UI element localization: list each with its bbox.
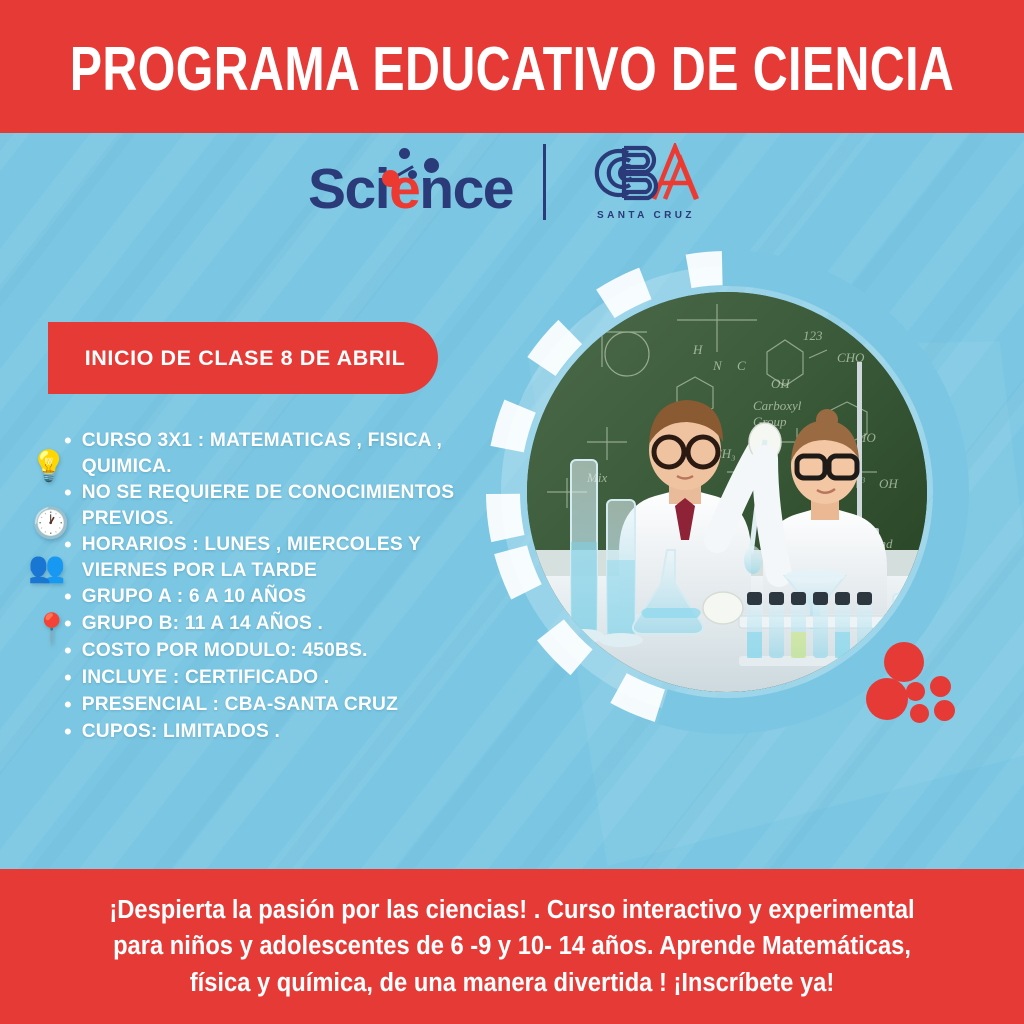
list-item-label: CUPOS: LIMITADOS . <box>82 719 280 745</box>
list-item-label: GRUPO B: 11 A 14 AÑOS . <box>82 611 323 637</box>
logo-row: Science <box>0 139 1024 225</box>
bullet-marker: • <box>58 532 72 558</box>
list-item: • NO SE REQUIERE DE CONOCIMIENTOS PREVIO… <box>58 480 458 531</box>
list-item-label: GRUPO A : 6 A 10 AÑOS <box>82 584 307 610</box>
page-title: PROGRAMA EDUCATIVO DE CIENCIA <box>70 33 955 101</box>
list-item-label: CURSO 3X1 : MATEMATICAS , FISICA , QUIMI… <box>82 428 458 479</box>
course-details-list: • CURSO 3X1 : MATEMATICAS , FISICA , QUI… <box>58 428 458 746</box>
list-item: • PRESENCIAL : CBA-SANTA CRUZ <box>58 692 458 718</box>
svg-text:123: 123 <box>803 328 823 343</box>
svg-text:C: C <box>737 358 746 373</box>
red-dot <box>884 642 924 682</box>
red-dots-decoration <box>866 638 976 738</box>
start-date-badge: INICIO DE CLASE 8 DE ABRIL <box>48 322 438 394</box>
header-banner: PROGRAMA EDUCATIVO DE CIENCIA <box>0 0 1024 133</box>
svg-text:OH: OH <box>879 476 898 491</box>
science-logo: Science <box>308 146 513 218</box>
list-item: • GRUPO B: 11 A 14 AÑOS . <box>58 611 458 637</box>
svg-text:H: H <box>692 342 703 357</box>
svg-text:N: N <box>712 358 723 373</box>
bullet-marker: • <box>58 692 72 718</box>
bullet-marker: • <box>58 719 72 745</box>
list-item-label: INCLUYE : CERTIFICADO . <box>82 665 330 691</box>
bullet-marker: • <box>58 638 72 664</box>
list-item: • COSTO POR MODULO: 450BS. <box>58 638 458 664</box>
red-dot <box>930 676 951 697</box>
red-dot <box>934 700 955 721</box>
bullet-marker: • <box>58 611 72 637</box>
svg-text:OH: OH <box>771 376 790 391</box>
bullet-marker: • <box>58 665 72 691</box>
list-item-label: HORARIOS : LUNES , MIERCOLES Y VIERNES P… <box>82 532 458 583</box>
list-item-label: NO SE REQUIERE DE CONOCIMIENTOS PREVIOS. <box>82 480 458 531</box>
cba-subtitle: SANTA CRUZ <box>576 210 716 221</box>
bullet-marker: • <box>58 584 72 610</box>
red-dot <box>866 678 908 720</box>
list-item-label: PRESENCIAL : CBA-SANTA CRUZ <box>82 692 398 718</box>
footer-banner: ¡Despierta la pasión por las ciencias! .… <box>0 869 1024 1024</box>
svg-text:Carboxyl: Carboxyl <box>753 398 802 413</box>
list-item: • INCLUYE : CERTIFICADO . <box>58 665 458 691</box>
lab-photo: H N C OH Carboxyl Group CHO H HO CH₃ OH … <box>527 292 927 692</box>
flyer-poster: PROGRAMA EDUCATIVO DE CIENCIA Science <box>0 0 1024 1024</box>
list-item: • CUPOS: LIMITADOS . <box>58 719 458 745</box>
lab-photo-illustration: H N C OH Carboxyl Group CHO H HO CH₃ OH … <box>527 292 927 692</box>
science-logo-part1: Sci <box>308 157 389 221</box>
list-item: • HORARIOS : LUNES , MIERCOLES Y VIERNES… <box>58 532 458 583</box>
red-dot <box>906 682 925 701</box>
logo-divider <box>543 144 546 220</box>
footer-text: ¡Despierta la pasión por las ciencias! .… <box>103 892 921 1001</box>
list-item-label: COSTO POR MODULO: 450BS. <box>82 638 368 664</box>
science-logo-highlight-e: e <box>389 157 419 221</box>
list-item: • GRUPO A : 6 A 10 AÑOS <box>58 584 458 610</box>
bullet-marker: • <box>58 428 72 454</box>
red-dot <box>910 704 929 723</box>
cba-logo: SANTA CRUZ <box>576 143 716 221</box>
bullet-marker: • <box>58 480 72 506</box>
photo-circle-wrapper: H N C OH Carboxyl Group CHO H HO CH₃ OH … <box>527 292 927 692</box>
cba-monogram-icon <box>576 143 716 203</box>
list-item: • CURSO 3X1 : MATEMATICAS , FISICA , QUI… <box>58 428 458 479</box>
start-date-badge-label: INICIO DE CLASE 8 DE ABRIL <box>85 345 406 371</box>
